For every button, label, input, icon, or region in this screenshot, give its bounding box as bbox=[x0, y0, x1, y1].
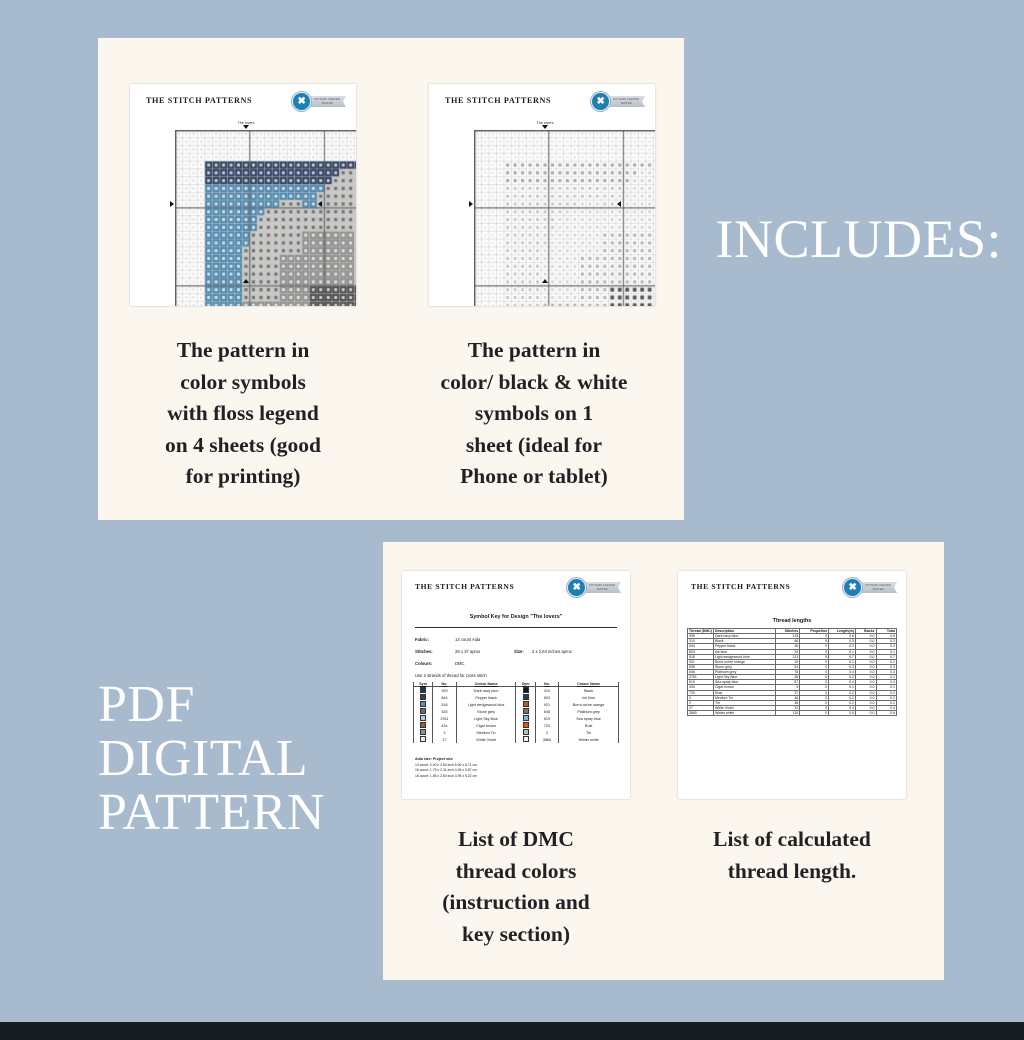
caption-dmc-key: List of DMCthread colors(instruction and… bbox=[391, 824, 641, 950]
dmc-number-cell: 646 bbox=[535, 708, 558, 715]
caption-line: on 4 sheets (good bbox=[116, 430, 370, 462]
symbol-swatch-cell bbox=[516, 694, 535, 701]
colour-name-cell: Burnt ochre orange bbox=[559, 701, 619, 708]
symbol-key-title: Symbol Key for Design "The lovers" bbox=[402, 614, 630, 620]
bottom-panel: THE STITCH PATTERNS ✖ PATTERN KEEPER TES… bbox=[383, 542, 944, 980]
pdf-line-1: PDF bbox=[98, 678, 325, 732]
caption-line: List of calculated bbox=[661, 824, 923, 856]
pequenos-cell: 0 bbox=[800, 711, 829, 716]
chart-canvas-color bbox=[175, 130, 356, 306]
symbol-swatch-cell bbox=[414, 694, 433, 701]
spec-size-value: 2 x 2.64 inches aprox bbox=[532, 649, 572, 654]
symbol-key-table: SymNo.Colour NameSymNo.Colour Name939Dar… bbox=[413, 682, 619, 743]
table-row: 939Dark navy blue310Black bbox=[414, 687, 619, 695]
colour-name-cell: Sea spray blue bbox=[559, 715, 619, 722]
dmc-number-cell: 803 bbox=[535, 694, 558, 701]
badge-line2: TESTED bbox=[596, 588, 607, 591]
dmc-number-cell: 519 bbox=[535, 715, 558, 722]
spec-fabric-label: Fabric: bbox=[415, 637, 429, 642]
symbol-swatch-icon bbox=[420, 729, 426, 735]
table-row: 3761Light Sky Blue519Sea spray blue bbox=[414, 715, 619, 722]
dmc-number-cell: 844 bbox=[433, 694, 456, 701]
dmc-number-cell: 2 bbox=[535, 729, 558, 736]
pdf-line-3: PATTERN bbox=[98, 786, 325, 840]
dmc-number-cell: 434 bbox=[433, 722, 456, 729]
dmc-number-cell: 3865 bbox=[535, 736, 558, 743]
pattern-keeper-badge: ✖ PATTERN KEEPER TESTED bbox=[567, 578, 621, 597]
caption-line: The pattern in bbox=[398, 335, 670, 367]
thread-number-cell: 3865 bbox=[688, 711, 714, 716]
symbol-swatch-cell bbox=[516, 701, 535, 708]
symbol-swatch-cell bbox=[414, 687, 433, 695]
caption-line: symbols on 1 bbox=[398, 398, 670, 430]
badge-seal-icon: ✖ bbox=[292, 92, 311, 111]
caption-line: thread colors bbox=[391, 856, 641, 888]
pattern-keeper-badge: ✖ PATTERN KEEPER TESTED bbox=[591, 92, 645, 111]
sheet-brand-title: THE STITCH PATTERNS bbox=[415, 582, 514, 591]
colour-name-cell: Black bbox=[559, 687, 619, 695]
sheet-brand-title: THE STITCH PATTERNS bbox=[691, 582, 790, 591]
badge-line2: TESTED bbox=[620, 102, 631, 105]
poster-stage: THE STITCH PATTERNS ✖ PATTERN KEEPER TES… bbox=[0, 0, 1024, 1040]
symbol-swatch-icon bbox=[420, 715, 426, 721]
caption-line: sheet (ideal for bbox=[398, 430, 670, 462]
symbol-swatch-icon bbox=[523, 729, 529, 735]
chart-marker-top bbox=[243, 125, 249, 129]
pattern-keeper-badge: ✖ PATTERN KEEPER TESTED bbox=[292, 92, 346, 111]
colour-name-cell: Pepper black bbox=[456, 694, 516, 701]
colour-name-cell: Platinum grey bbox=[559, 708, 619, 715]
caption-line: The pattern in bbox=[116, 335, 370, 367]
symbol-swatch-icon bbox=[420, 701, 426, 707]
pattern-keeper-badge: ✖ PATTERN KEEPER TESTED bbox=[843, 578, 897, 597]
symbol-swatch-icon bbox=[523, 708, 529, 714]
colour-name-cell: Ink blue bbox=[559, 694, 619, 701]
chart-marker-bottom bbox=[243, 279, 249, 283]
stitches-cell: 110 bbox=[775, 711, 800, 716]
includes-headline: INCLUDES: bbox=[716, 212, 1003, 266]
symbol-swatch-icon bbox=[523, 722, 529, 728]
key-divider bbox=[415, 627, 617, 628]
symbol-swatch-icon bbox=[523, 715, 529, 721]
colour-name-cell: Winter white bbox=[559, 736, 619, 743]
spec-stitches-label: Stitches: bbox=[415, 649, 433, 654]
spec-fabric-value: 14 count Aida bbox=[455, 637, 480, 642]
caption-line: List of DMC bbox=[391, 824, 641, 856]
pdf-digital-pattern-headline: PDF DIGITAL PATTERN bbox=[98, 678, 325, 840]
top-panel: THE STITCH PATTERNS ✖ PATTERN KEEPER TES… bbox=[98, 38, 684, 520]
sheet-brand-title: THE STITCH PATTERNS bbox=[445, 96, 551, 105]
aida-size-title: Aida size: Project size bbox=[415, 757, 453, 761]
table-header-row: Thread (DMC)DescriptionStitchesPequeñosL… bbox=[688, 629, 897, 634]
table-row: 434Cigar brown720Rust bbox=[414, 722, 619, 729]
symbol-swatch-cell bbox=[516, 715, 535, 722]
spec-size-label: Size: bbox=[514, 649, 524, 654]
thread-description-cell: Winter white bbox=[713, 711, 775, 716]
symbol-swatch-cell bbox=[414, 736, 433, 743]
sheet-color-symbol-chart[interactable]: THE STITCH PATTERNS ✖ PATTERN KEEPER TES… bbox=[130, 84, 356, 306]
spec-colours-value: DMC bbox=[455, 661, 465, 666]
symbol-swatch-icon bbox=[523, 687, 529, 693]
chart-marker-right bbox=[617, 201, 621, 207]
symbol-swatch-icon bbox=[523, 736, 529, 742]
symbol-swatch-icon bbox=[420, 694, 426, 700]
symbol-swatch-icon bbox=[523, 694, 529, 700]
chart-marker-top bbox=[542, 125, 548, 129]
dmc-number-cell: 720 bbox=[535, 722, 558, 729]
caption-line: color/ black & white bbox=[398, 367, 670, 399]
sheet-dmc-key[interactable]: THE STITCH PATTERNS ✖ PATTERN KEEPER TES… bbox=[402, 571, 630, 799]
dmc-number-cell: 939 bbox=[433, 687, 456, 695]
thread-lengths-title: Thread lengths bbox=[678, 618, 906, 624]
symbol-swatch-cell bbox=[516, 708, 535, 715]
symbol-swatch-icon bbox=[420, 736, 426, 742]
aida-size-line: 18 count: 1.56 x 2.60 inch 3.95 x 5.22 c… bbox=[415, 774, 477, 779]
colour-name-cell: Rust bbox=[559, 722, 619, 729]
dmc-number-cell: 3 bbox=[433, 729, 456, 736]
badge-seal-icon: ✖ bbox=[843, 578, 862, 597]
chart-marker-bottom bbox=[542, 279, 548, 283]
caption-line: key section) bbox=[391, 919, 641, 951]
colour-name-cell: Cigar brown bbox=[456, 722, 516, 729]
strands-note: Use 2 strands of thread for cross stitch bbox=[415, 673, 487, 678]
chart-marker-right bbox=[318, 201, 322, 207]
symbol-swatch-cell bbox=[414, 722, 433, 729]
dmc-number-cell: 535 bbox=[433, 708, 456, 715]
colour-name-cell: Light wedgewood blue bbox=[456, 701, 516, 708]
symbol-swatch-cell bbox=[414, 708, 433, 715]
dmc-number-cell: 27 bbox=[433, 736, 456, 743]
chart-canvas-bw bbox=[474, 130, 655, 306]
caption-line: for printing) bbox=[116, 461, 370, 493]
caption-line: color symbols bbox=[116, 367, 370, 399]
dmc-number-cell: 310 bbox=[535, 687, 558, 695]
symbol-swatch-icon bbox=[420, 722, 426, 728]
length-cell: 0.6 bbox=[829, 711, 856, 716]
dmc-number-cell: 518 bbox=[433, 701, 456, 708]
aida-size-lines: 14 count: 2.00 x 2.64 inch 5.90 x 6.71 c… bbox=[415, 763, 477, 779]
table-row: 844Pepper black803Ink blue bbox=[414, 694, 619, 701]
colour-name-cell: Stone grey bbox=[456, 708, 516, 715]
symbol-swatch-cell bbox=[516, 687, 535, 695]
caption-line: thread length. bbox=[661, 856, 923, 888]
symbol-swatch-icon bbox=[420, 708, 426, 714]
badge-line2: TESTED bbox=[872, 588, 883, 591]
caption-bw-symbol-chart: The pattern incolor/ black & whitesymbol… bbox=[398, 335, 670, 493]
symbol-swatch-icon bbox=[420, 687, 426, 693]
thread-lengths-table: Thread (DMC)DescriptionStitchesPequeñosL… bbox=[687, 628, 897, 716]
badge-line2: TESTED bbox=[321, 102, 332, 105]
cross-stitch-chart-bw: The lovers bbox=[474, 130, 616, 278]
sheet-bw-symbol-chart[interactable]: THE STITCH PATTERNS ✖ PATTERN KEEPER TES… bbox=[429, 84, 655, 306]
spec-colours-label: Colours: bbox=[415, 661, 432, 666]
chart-marker-left bbox=[469, 201, 473, 207]
backs-cell: 0.0 bbox=[855, 711, 876, 716]
colour-name-cell: Dark navy blue bbox=[456, 687, 516, 695]
symbol-swatch-icon bbox=[523, 701, 529, 707]
symbol-swatch-cell bbox=[516, 722, 535, 729]
table-row: 535Stone grey646Platinum grey bbox=[414, 708, 619, 715]
total-cell: 0.6 bbox=[876, 711, 897, 716]
bottom-bar bbox=[0, 1022, 1024, 1040]
dmc-number-cell: 921 bbox=[535, 701, 558, 708]
thread-col-threaddmc: Thread (DMC) bbox=[688, 629, 714, 634]
table-row: 518Light wedgewood blue921Burnt ochre or… bbox=[414, 701, 619, 708]
symbol-swatch-cell bbox=[414, 715, 433, 722]
colour-name-cell: Medium Tin bbox=[456, 729, 516, 736]
spec-stitches-value: 28 x 37 aprox bbox=[455, 649, 480, 654]
colour-name-cell: White Violet bbox=[456, 736, 516, 743]
symbol-swatch-cell bbox=[516, 736, 535, 743]
caption-line: Phone or tablet) bbox=[398, 461, 670, 493]
badge-seal-icon: ✖ bbox=[591, 92, 610, 111]
symbol-swatch-cell bbox=[414, 729, 433, 736]
colour-name-cell: Light Sky Blue bbox=[456, 715, 516, 722]
cross-stitch-chart-color: The lovers bbox=[175, 130, 317, 278]
badge-seal-icon: ✖ bbox=[567, 578, 586, 597]
caption-line: with floss legend bbox=[116, 398, 370, 430]
sheet-brand-title: THE STITCH PATTERNS bbox=[146, 96, 252, 105]
symbol-swatch-cell bbox=[414, 701, 433, 708]
caption-line: (instruction and bbox=[391, 887, 641, 919]
table-row: 3Medium Tin2Tin bbox=[414, 729, 619, 736]
dmc-number-cell: 3761 bbox=[433, 715, 456, 722]
table-row: 27White Violet3865Winter white bbox=[414, 736, 619, 743]
table-row: 3865Winter white11000.60.00.6 bbox=[688, 711, 897, 716]
caption-color-symbol-chart: The pattern incolor symbolswith floss le… bbox=[116, 335, 370, 493]
colour-name-cell: Tin bbox=[559, 729, 619, 736]
caption-thread-lengths: List of calculatedthread length. bbox=[661, 824, 923, 887]
symbol-swatch-cell bbox=[516, 729, 535, 736]
sheet-thread-lengths[interactable]: THE STITCH PATTERNS ✖ PATTERN KEEPER TES… bbox=[678, 571, 906, 799]
pdf-line-2: DIGITAL bbox=[98, 732, 325, 786]
chart-marker-left bbox=[170, 201, 174, 207]
